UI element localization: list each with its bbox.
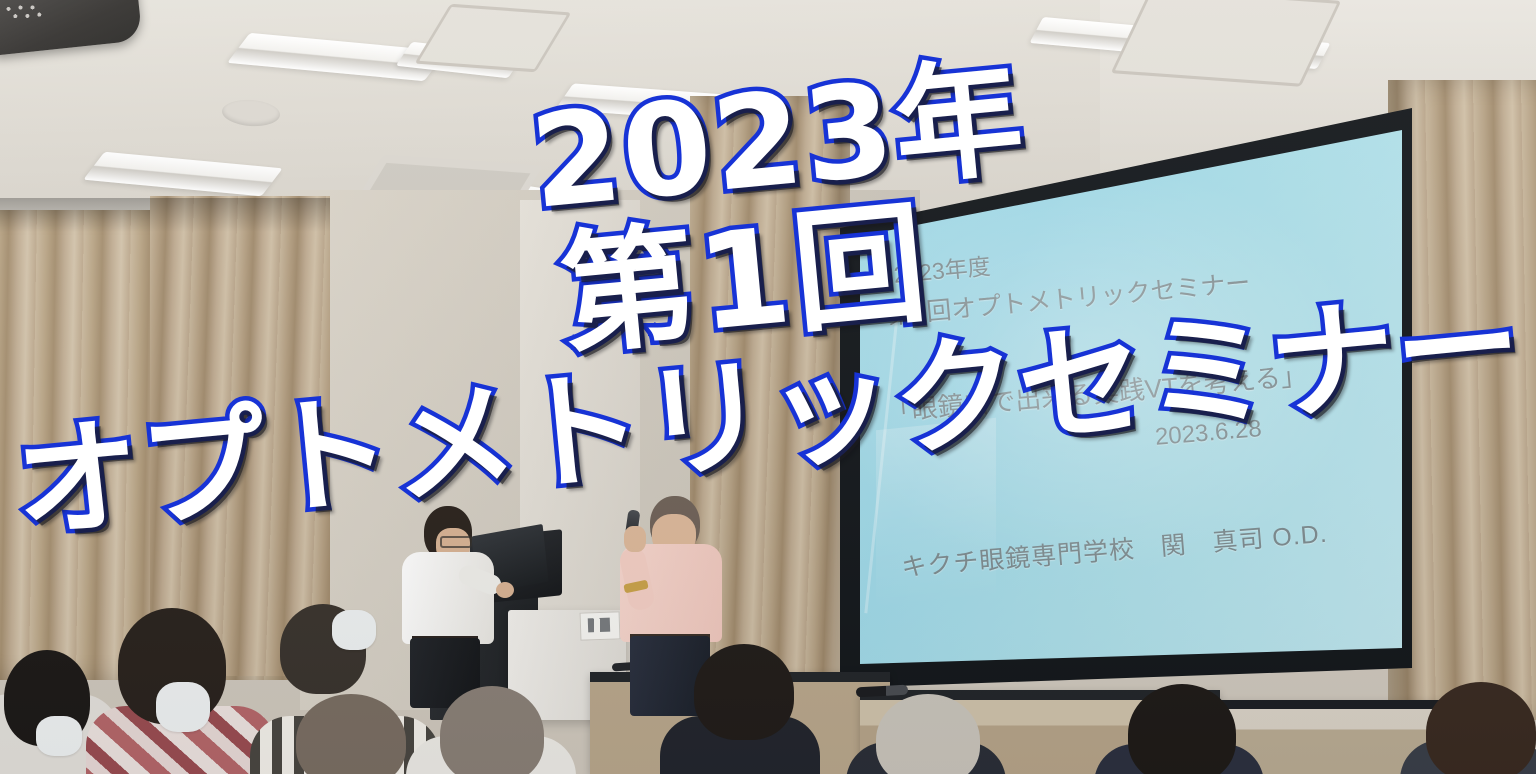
face-mask [332,610,376,650]
glasses [440,536,472,548]
projector-vent [4,0,65,22]
ceiling-vent [1111,0,1342,87]
podium-sign [580,611,621,640]
hand [624,526,646,552]
audience-head [1426,682,1536,774]
presenter-at-laptop [396,500,506,680]
slide-line-1: 2023年度 [892,247,992,290]
face-mask [36,716,82,756]
audience-head [1128,684,1236,774]
audience-head [440,686,544,774]
curtain-rail-shadow [0,198,330,232]
shirt [402,552,494,644]
audience-head [694,644,794,740]
curtain-left-inner [150,196,330,676]
face-mask [156,682,210,732]
seminar-title-card: 2023年度 第1回オプトメトリックセミナー 「眼鏡店で出来る実践VTを考える」… [0,0,1536,774]
hand [496,582,514,598]
slide-date: 2023.6.28 [1154,415,1263,452]
screen-reflection [876,418,996,611]
venue-photo: 2023年度 第1回オプトメトリックセミナー 「眼鏡店で出来る実践VTを考える」… [0,0,1536,774]
